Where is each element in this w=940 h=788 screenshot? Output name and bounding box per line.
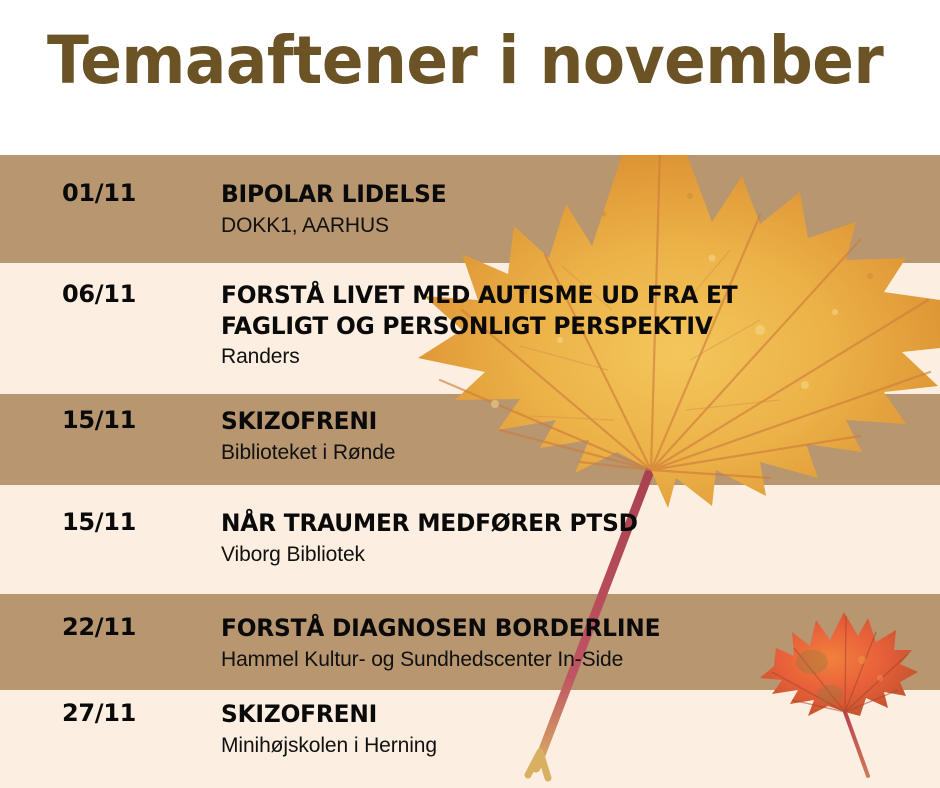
event-date: 15/11 [62,406,202,434]
event-title: SKIZOFRENI [221,406,900,437]
event-title: BIPOLAR LIDELSE [221,179,900,210]
event-venue: Hammel Kultur- og Sundhedscenter In-Side [221,646,921,673]
event-venue: Randers [221,343,921,370]
event-date: 01/11 [62,179,202,207]
event-row[interactable]: 22/11 FORSTÅ DIAGNOSEN BORDERLINE Hammel… [0,613,940,690]
event-title: SKIZOFRENI [221,699,900,730]
event-venue: Biblioteket i Rønde [221,439,921,466]
event-date: 27/11 [62,699,202,727]
event-body: FORSTÅ DIAGNOSEN BORDERLINE Hammel Kultu… [221,613,921,673]
page-title: Temaaftener i november [47,24,883,98]
event-body: NÅR TRAUMER MEDFØRER PTSD Viborg Bibliot… [221,508,921,568]
event-body: FORSTÅ LIVET MED AUTISME UD FRA ET FAGLI… [221,280,921,371]
event-title: FORSTÅ DIAGNOSEN BORDERLINE [221,613,900,644]
event-row[interactable]: 15/11 SKIZOFRENI Biblioteket i Rønde [0,406,940,485]
event-row[interactable]: 01/11 BIPOLAR LIDELSE DOKK1, AARHUS [0,179,940,263]
event-date: 15/11 [62,508,202,536]
event-body: BIPOLAR LIDELSE DOKK1, AARHUS [221,179,921,239]
event-title: NÅR TRAUMER MEDFØRER PTSD [221,508,900,539]
event-venue: DOKK1, AARHUS [221,212,921,239]
event-row[interactable]: 15/11 NÅR TRAUMER MEDFØRER PTSD Viborg B… [0,508,940,594]
event-venue: Viborg Bibliotek [221,541,921,568]
event-body: SKIZOFRENI Biblioteket i Rønde [221,406,921,466]
event-date: 22/11 [62,613,202,641]
event-body: SKIZOFRENI Minihøjskolen i Herning [221,699,921,759]
event-row[interactable]: 27/11 SKIZOFRENI Minihøjskolen i Herning [0,699,940,779]
event-title: FORSTÅ LIVET MED AUTISME UD FRA ET FAGLI… [221,280,900,341]
poster-canvas: Temaaftener i november 01/11 BIPOLAR LID… [0,0,940,788]
event-row[interactable]: 06/11 FORSTÅ LIVET MED AUTISME UD FRA ET… [0,280,940,394]
event-venue: Minihøjskolen i Herning [221,732,921,759]
title-area: Temaaftener i november [0,0,940,155]
event-date: 06/11 [62,280,202,308]
